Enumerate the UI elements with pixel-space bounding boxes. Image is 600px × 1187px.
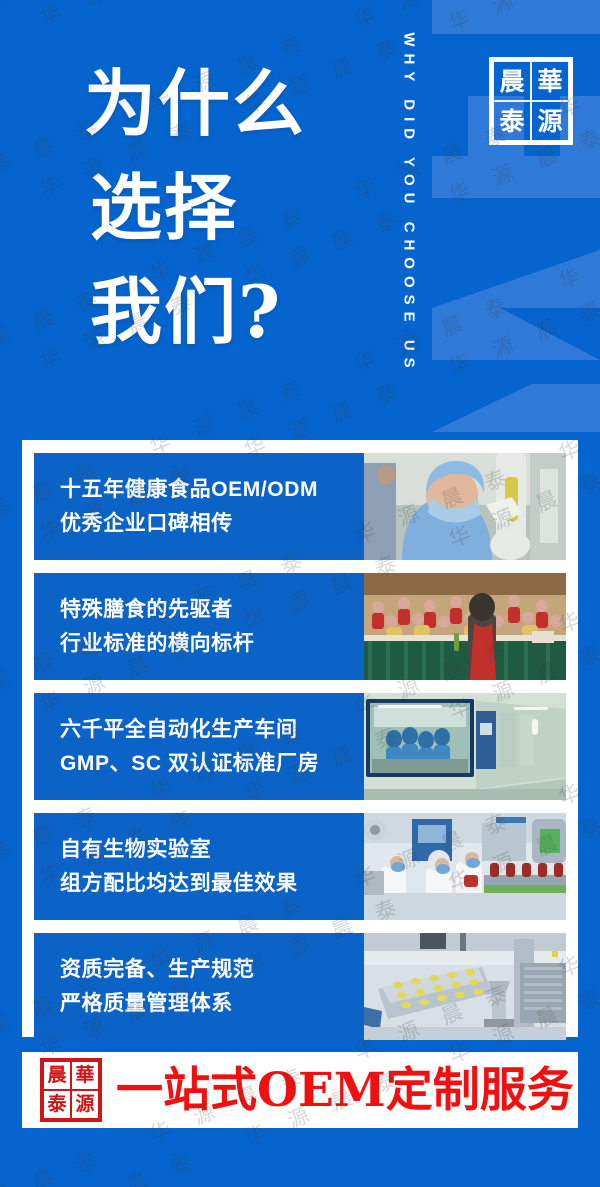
feature-card-3-line-2: GMP、SC 双认证标准厂房: [60, 747, 364, 781]
feature-card-3-photo: [364, 693, 566, 800]
seal-char-bottom-left: 泰: [493, 101, 531, 141]
feature-card-1-photo: [364, 453, 566, 560]
feature-card-3-line-1: 六千平全自动化生产车间: [60, 713, 364, 747]
footer-banner: 晨 華 泰 源 一站式OEM定制服务: [22, 1052, 578, 1128]
feature-card-2-line-2: 行业标准的横向标杆: [60, 627, 364, 661]
feature-card-4-text: 自有生物实验室 组方配比均达到最佳效果: [34, 813, 364, 920]
footer-seal-char-bottom-right: 源: [71, 1090, 99, 1119]
feature-card-2-line-1: 特殊膳食的先驱者: [60, 593, 364, 627]
footer-seal-char-bottom-left: 泰: [43, 1090, 71, 1119]
feature-card-4-line-1: 自有生物实验室: [60, 833, 364, 867]
seal-char-top-left: 晨: [493, 61, 531, 101]
feature-card-2[interactable]: 特殊膳食的先驱者 行业标准的横向标杆: [34, 573, 566, 680]
feature-card-5-line-1: 资质完备、生产规范: [60, 953, 364, 987]
feature-card-2-text: 特殊膳食的先驱者 行业标准的横向标杆: [34, 573, 364, 680]
vertical-english-subtitle: WHY DID YOU CHOOSE US: [392, 10, 426, 405]
headline-line-3: 我们?: [90, 260, 306, 364]
footer-seal-char-top-left: 晨: [43, 1061, 71, 1090]
headline-line-2: 选择: [90, 156, 306, 260]
seal-char-bottom-right: 源: [531, 101, 569, 141]
feature-card-1[interactable]: 十五年健康食品OEM/ODM 优秀企业口碑相传: [34, 453, 566, 560]
feature-card-5-text: 资质完备、生产规范 严格质量管理体系: [34, 933, 364, 1040]
feature-card-4-photo: [364, 813, 566, 920]
poster-root: 华源晨泰 华源晨泰 华源晨泰 华源晨泰 华源晨泰 华源晨泰 华源晨泰 华源晨泰 …: [0, 0, 600, 1187]
feature-card-5[interactable]: 资质完备、生产规范 严格质量管理体系: [34, 933, 566, 1040]
feature-card-1-text: 十五年健康食品OEM/ODM 优秀企业口碑相传: [34, 453, 364, 560]
vertical-english-text: WHY DID YOU CHOOSE US: [401, 32, 418, 374]
feature-card-4-line-2: 组方配比均达到最佳效果: [60, 867, 364, 901]
footer-seal-logo: 晨 華 泰 源: [40, 1058, 102, 1122]
feature-card-5-photo: [364, 933, 566, 1040]
seal-char-top-right: 華: [531, 61, 569, 101]
feature-card-1-line-1: 十五年健康食品OEM/ODM: [60, 473, 364, 507]
feature-card-3-text: 六千平全自动化生产车间 GMP、SC 双认证标准厂房: [34, 693, 364, 800]
headline-line-1: 为什么: [84, 52, 306, 156]
brand-seal-logo: 晨 華 泰 源: [489, 57, 573, 145]
feature-card-5-line-2: 严格质量管理体系: [60, 987, 364, 1021]
feature-card-2-photo: [364, 573, 566, 680]
footer-seal-char-top-right: 華: [71, 1061, 99, 1090]
footer-tagline: 一站式OEM定制服务: [116, 1067, 574, 1114]
feature-card-1-line-2: 优秀企业口碑相传: [60, 507, 364, 541]
feature-card-3[interactable]: 六千平全自动化生产车间 GMP、SC 双认证标准厂房: [34, 693, 566, 800]
feature-card-4[interactable]: 自有生物实验室 组方配比均达到最佳效果: [34, 813, 566, 920]
page-title: 为什么 选择 我们?: [84, 52, 306, 364]
